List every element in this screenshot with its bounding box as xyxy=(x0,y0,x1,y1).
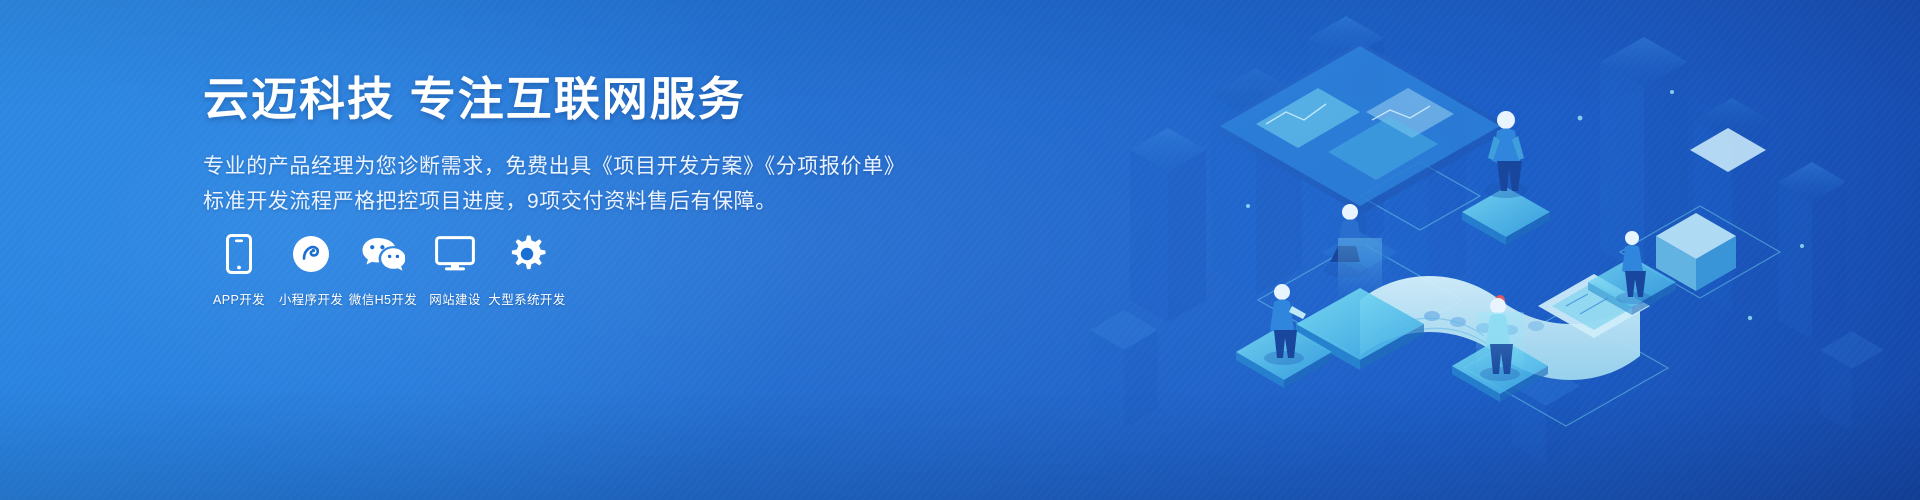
mini-program-icon xyxy=(292,232,330,276)
illustration-container xyxy=(1060,0,1920,500)
banner-subtitle: 专业的产品经理为您诊断需求，免费出具《项目开发方案》《分项报价单》 标准开发流程… xyxy=(203,150,943,219)
wechat-icon xyxy=(361,232,405,276)
subtitle-line-2: 标准开发流程严格把控项目进度，9项交付资料售后有保障。 xyxy=(203,185,943,220)
service-list: APP开发 小程序开发 xyxy=(203,232,563,308)
gear-icon xyxy=(507,232,547,276)
service-label: APP开发 xyxy=(213,289,265,308)
mini-chart-card xyxy=(1690,0,1766,172)
hero-banner: 云迈科技 专注互联网服务 专业的产品经理为您诊断需求，免费出具《项目开发方案》《… xyxy=(0,0,1920,500)
page-title: 云迈科技 专注互联网服务 xyxy=(203,72,943,126)
service-label: 大型系统开发 xyxy=(488,289,565,308)
service-item-large-system[interactable]: 大型系统开发 xyxy=(491,232,563,308)
service-item-mini-program[interactable]: 小程序开发 xyxy=(275,232,347,308)
service-item-app[interactable]: APP开发 xyxy=(203,232,275,308)
background-blocks xyxy=(1090,16,1884,464)
service-item-website[interactable]: 网站建设 xyxy=(419,232,491,308)
isometric-illustration xyxy=(1060,0,1920,500)
mobile-phone-icon xyxy=(226,232,252,276)
banner-content: 云迈科技 专注互联网服务 专业的产品经理为您诊断需求，免费出具《项目开发方案》《… xyxy=(203,72,943,220)
service-label: 微信H5开发 xyxy=(349,289,417,308)
service-item-wechat-h5[interactable]: 微信H5开发 xyxy=(347,232,419,308)
subtitle-line-1: 专业的产品经理为您诊断需求，免费出具《项目开发方案》《分项报价单》 xyxy=(203,150,943,185)
monitor-icon xyxy=(435,232,475,276)
service-label: 小程序开发 xyxy=(279,289,344,308)
service-label: 网站建设 xyxy=(429,289,481,308)
